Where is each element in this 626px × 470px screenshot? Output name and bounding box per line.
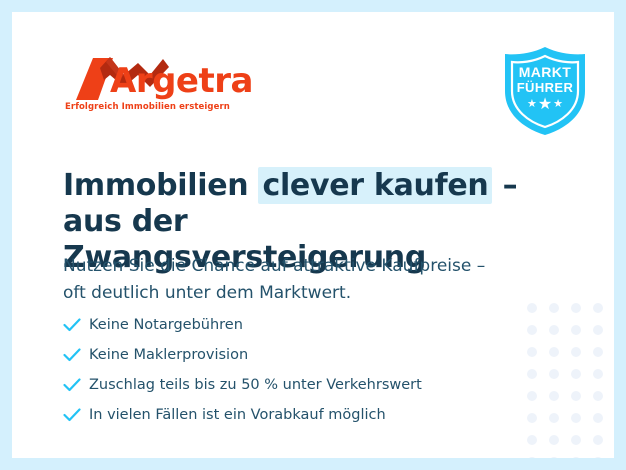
check-icon: [63, 318, 89, 332]
logo-tagline: Erfolgreich Immobilien ersteigern: [65, 102, 230, 112]
dot: [587, 407, 609, 429]
dot: [543, 319, 565, 341]
dot: [543, 429, 565, 451]
dot: [565, 341, 587, 363]
dot: [587, 429, 609, 451]
headline-highlight: clever kaufen: [258, 167, 492, 204]
decorative-dot-grid: [521, 297, 614, 458]
list-item-label: Keine Notargebühren: [89, 315, 243, 335]
dot: [565, 319, 587, 341]
check-icon: [63, 408, 89, 422]
dot: [565, 451, 587, 458]
dot: [609, 407, 614, 429]
dot: [609, 429, 614, 451]
market-leader-badge: MARKT FÜHRER ★ ★ ★: [501, 45, 589, 137]
argetra-logo: Argetra Erfolgreich Immobilien ersteiger…: [64, 56, 214, 118]
dot: [565, 385, 587, 407]
dot: [543, 341, 565, 363]
list-item: Zuschlag teils bis zu 50 % unter Verkehr…: [63, 370, 533, 400]
dot: [587, 297, 609, 319]
dot: [587, 363, 609, 385]
dot: [543, 363, 565, 385]
dot: [609, 385, 614, 407]
dot: [609, 363, 614, 385]
logo-wordmark: Argetra: [110, 61, 253, 101]
list-item: Keine Notargebühren: [63, 310, 533, 340]
dot: [565, 407, 587, 429]
dot: [587, 385, 609, 407]
dot: [565, 429, 587, 451]
promo-card: Argetra Erfolgreich Immobilien ersteiger…: [12, 12, 614, 458]
subheading: Nutzen Sie die Chance auf attraktive Kau…: [63, 253, 563, 307]
dot: [609, 341, 614, 363]
list-item-label: In vielen Fällen ist ein Vorabkauf mögli…: [89, 405, 386, 425]
benefits-list: Keine Notargebühren Keine Maklerprovisio…: [63, 310, 533, 430]
subheading-line2: oft deutlich unter dem Marktwert.: [63, 283, 351, 303]
headline-line1-before: Immobilien: [63, 168, 258, 203]
dot: [565, 363, 587, 385]
dot: [543, 407, 565, 429]
headline-line1: Immobilien clever kaufen –: [63, 167, 517, 204]
headline-line1-after: –: [492, 168, 517, 203]
dot: [609, 297, 614, 319]
check-icon: [63, 378, 89, 392]
dot: [587, 341, 609, 363]
dot: [521, 429, 543, 451]
list-item: Keine Maklerprovision: [63, 340, 533, 370]
dot: [521, 451, 543, 458]
dot: [587, 319, 609, 341]
list-item-label: Keine Maklerprovision: [89, 345, 248, 365]
dot: [543, 385, 565, 407]
dot: [543, 451, 565, 458]
dot: [565, 297, 587, 319]
list-item-label: Zuschlag teils bis zu 50 % unter Verkehr…: [89, 375, 422, 395]
dot: [587, 451, 609, 458]
subheading-line1: Nutzen Sie die Chance auf attraktive Kau…: [63, 256, 485, 276]
dot: [609, 451, 614, 458]
dot: [609, 319, 614, 341]
list-item: In vielen Fällen ist ein Vorabkauf mögli…: [63, 400, 533, 430]
check-icon: [63, 348, 89, 362]
